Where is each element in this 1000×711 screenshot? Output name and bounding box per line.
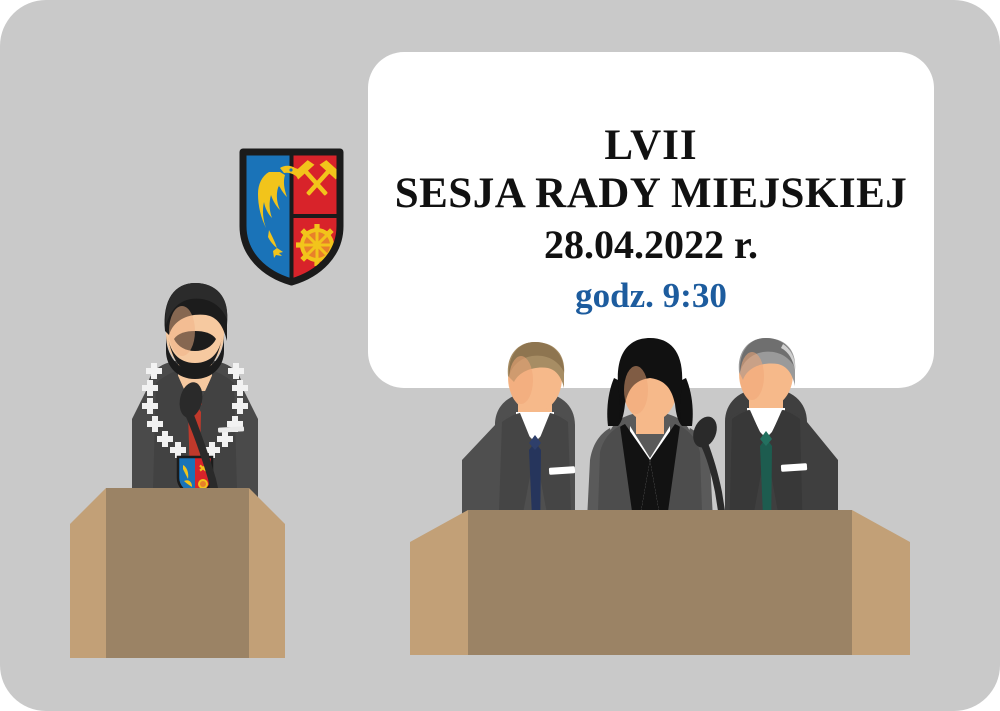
session-time: godz. 9:30	[575, 274, 727, 318]
session-announcement-poster: LVII SESJA RADY MIEJSKIEJ 28.04.2022 r. …	[0, 0, 1000, 711]
session-title: SESJA RADY MIEJSKIEJ	[395, 170, 908, 218]
council-members-group	[440, 330, 860, 540]
session-number: LVII	[604, 122, 697, 170]
council-table	[410, 510, 910, 655]
coat-of-arms-icon	[239, 148, 344, 286]
session-date: 28.04.2022 r.	[544, 220, 758, 270]
speaker-lectern	[70, 488, 285, 658]
